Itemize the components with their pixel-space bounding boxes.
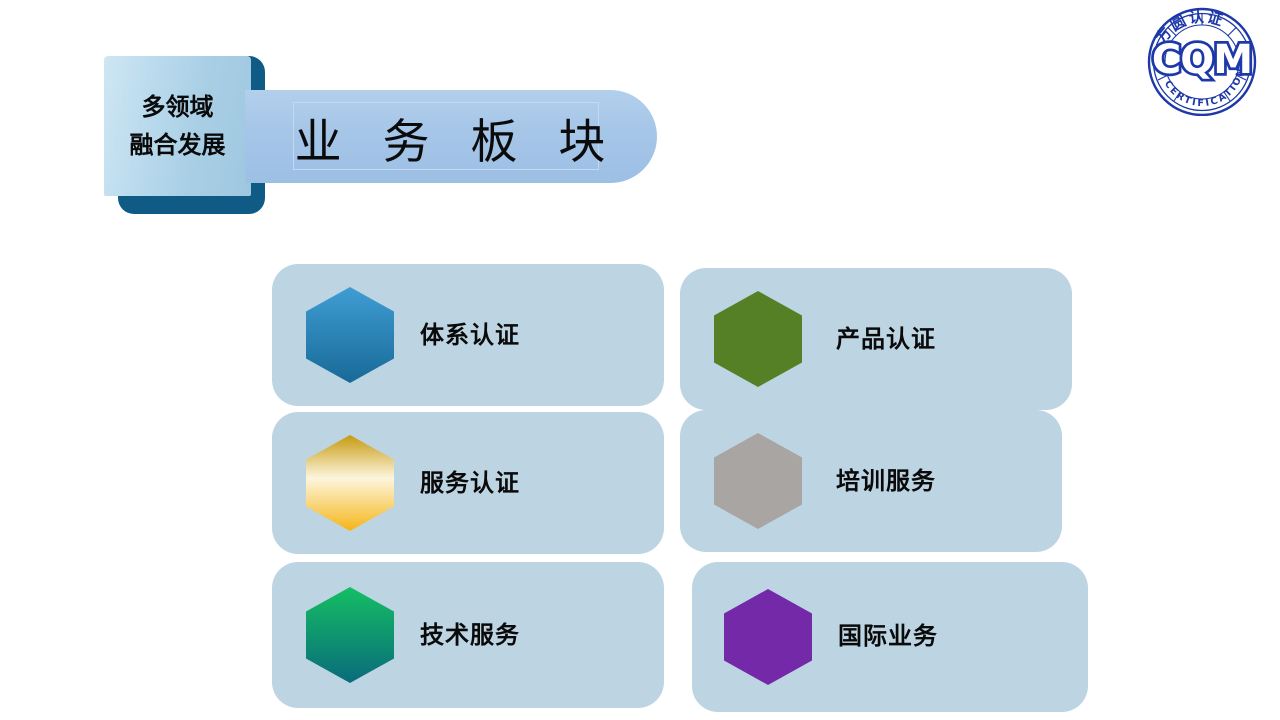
tagline-line-1: 多领域 <box>142 95 214 119</box>
slide-header: 多领域 融合发展 业 务 板 块 <box>0 0 1280 240</box>
hexagon-icon <box>712 290 804 388</box>
hexagon-icon <box>304 434 396 532</box>
cqm-logo: 方圆认证 CERTIFICATION CQM <box>1136 4 1268 116</box>
card-peixunfuwu[interactable]: 培训服务 <box>680 410 1062 552</box>
card-label: 国际业务 <box>838 624 938 648</box>
card-tixirenzheng[interactable]: 体系认证 <box>272 264 664 406</box>
hexagon-icon <box>722 588 814 686</box>
card-label: 产品认证 <box>836 327 936 351</box>
card-guojiyewu[interactable]: 国际业务 <box>692 562 1088 712</box>
tagline-line-2: 融合发展 <box>130 133 226 157</box>
hexagon-icon <box>304 586 396 684</box>
card-label: 体系认证 <box>420 323 520 347</box>
card-label: 技术服务 <box>420 623 520 647</box>
card-label: 培训服务 <box>836 469 936 493</box>
card-jishufuwu[interactable]: 技术服务 <box>272 562 664 708</box>
tagline-badge: 多领域 融合发展 <box>104 56 251 196</box>
page-title: 业 务 板 块 <box>285 97 615 177</box>
hexagon-icon <box>304 286 396 384</box>
business-segments-grid: 体系认证 产品认证 服务认证 培训服务 <box>0 240 1280 720</box>
logo-wordmark: CQM <box>1152 37 1252 83</box>
card-chanpinrenzheng[interactable]: 产品认证 <box>680 268 1072 410</box>
hexagon-icon <box>712 432 804 530</box>
card-fuwurenzheng[interactable]: 服务认证 <box>272 412 664 554</box>
card-label: 服务认证 <box>420 471 520 495</box>
